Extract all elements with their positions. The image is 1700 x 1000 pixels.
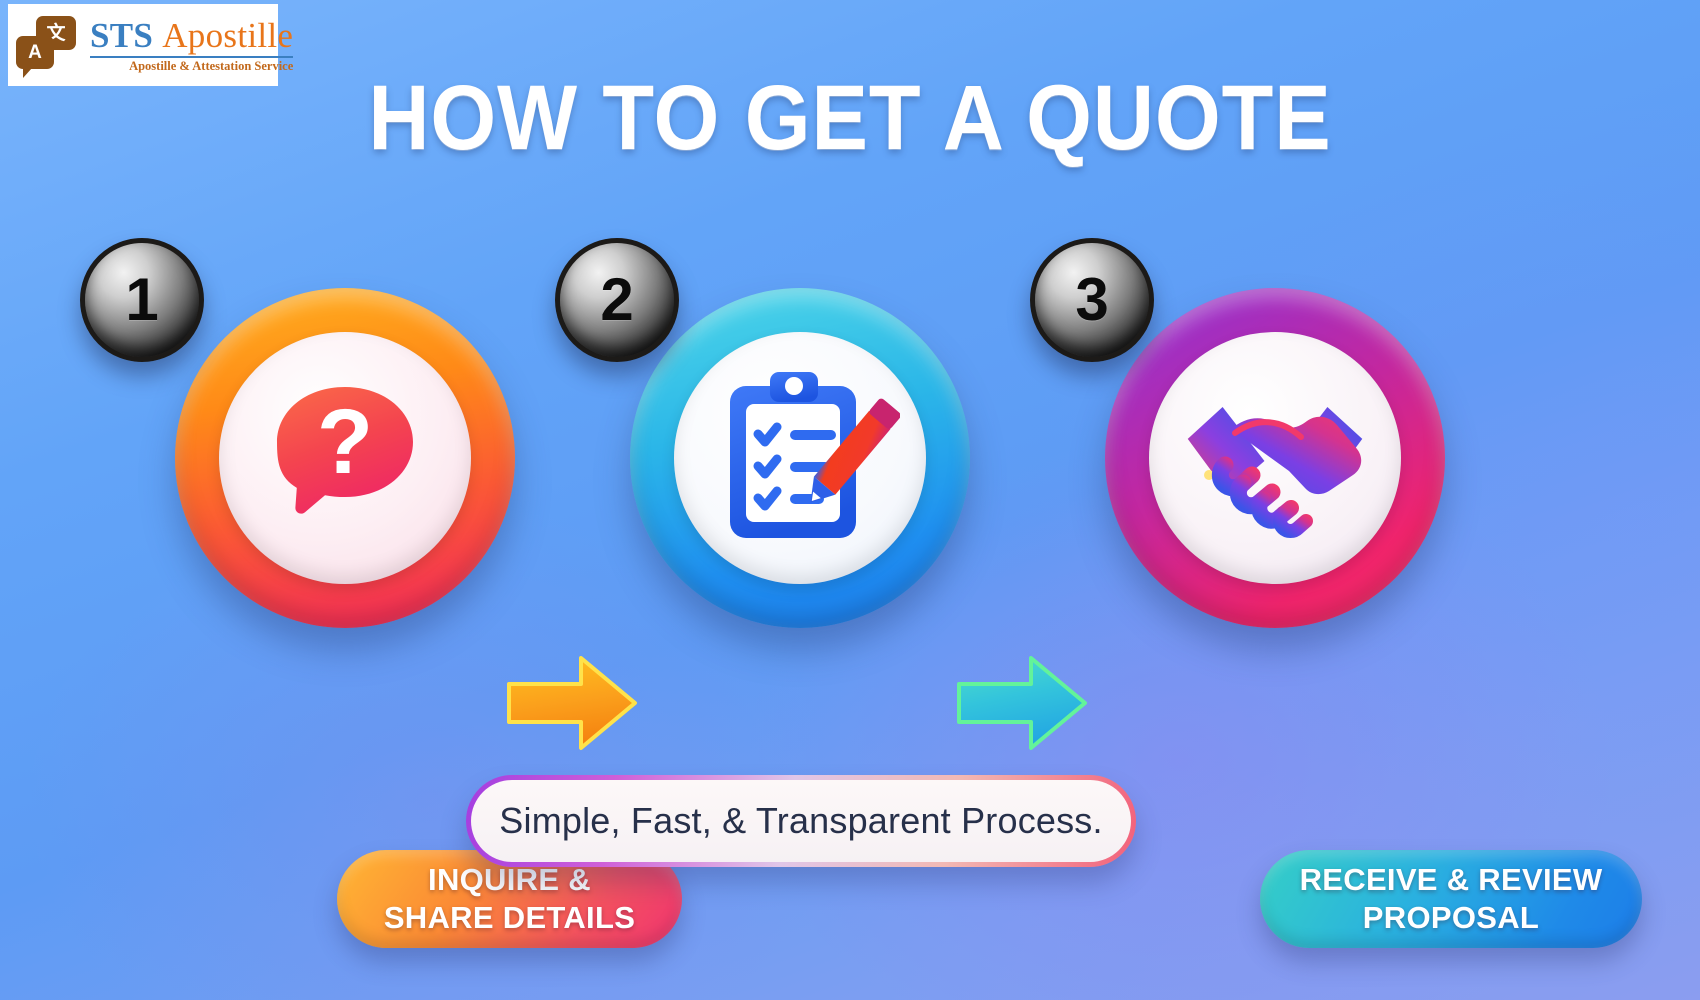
arrow-step2-to-step3: [955, 648, 1091, 758]
step-number-badge-1: 1: [80, 238, 204, 362]
step-label-2-line1: RECEIVE & REVIEW: [1300, 862, 1603, 897]
step-icon-circle-3: [1105, 288, 1445, 628]
steps-row: 1 ? INQUIRE &SH: [0, 250, 1700, 770]
footer-text: Simple, Fast, & Transparent Process.: [471, 780, 1131, 862]
step-icon-circle-2: [630, 288, 970, 628]
step-1[interactable]: 1 ? INQUIRE &SH: [165, 250, 525, 628]
step-label-1-line2: SHARE DETAILS: [384, 900, 635, 935]
right-arrow-icon: [505, 648, 641, 758]
step-3[interactable]: 3: [1095, 250, 1455, 628]
logo-brand-name: STS Apostille: [90, 18, 293, 53]
step-number-badge-3: 3: [1030, 238, 1154, 362]
step-number-badge-2: 2: [555, 238, 679, 362]
logo-brand-sts: STS: [90, 16, 162, 55]
clipboard-checklist-pencil-icon: [630, 288, 970, 628]
step-label-1-line1: INQUIRE &: [428, 862, 591, 897]
bubble-char-latin: A: [16, 36, 54, 69]
step-label-2[interactable]: RECEIVE & REVIEWPROPOSAL: [1260, 850, 1642, 948]
step-label-2-line2: PROPOSAL: [1363, 900, 1539, 935]
right-arrow-icon: [955, 648, 1091, 758]
step-2[interactable]: 2: [620, 250, 980, 628]
logo-brand-apostille: Apostille: [162, 16, 293, 55]
page-title: HOW TO GET A QUOTE: [68, 66, 1632, 171]
logo-divider: [90, 56, 293, 58]
step-icon-circle-1: ?: [175, 288, 515, 628]
logo-text: STS Apostille Apostille & Attestation Se…: [90, 18, 293, 73]
infographic-canvas: 文 A STS Apostille Apostille & Attestatio…: [0, 0, 1700, 1000]
translation-bubble-front-icon: A: [16, 36, 54, 69]
arrow-step1-to-step2: [505, 648, 641, 758]
handshake-icon: [1105, 288, 1445, 628]
question-speech-bubble-icon: ?: [175, 288, 515, 628]
svg-text:?: ?: [317, 391, 373, 493]
footer-banner: Simple, Fast, & Transparent Process.: [466, 775, 1136, 867]
